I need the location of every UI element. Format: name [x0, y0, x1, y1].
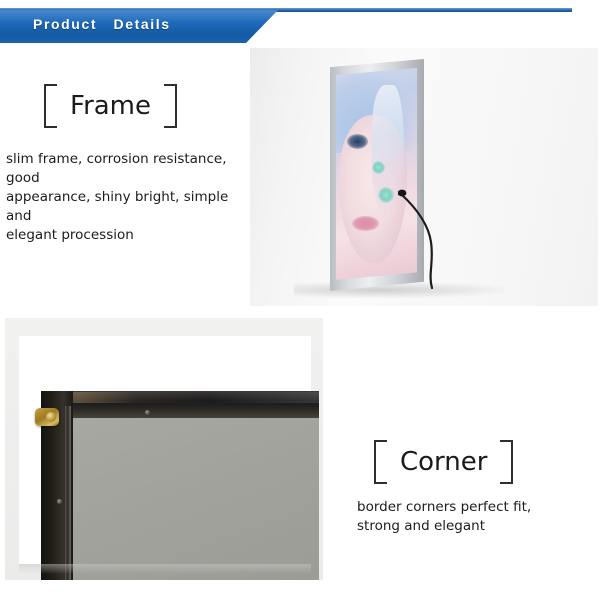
- bracket-left-icon: [374, 440, 387, 484]
- bracket-right-icon: [164, 84, 177, 128]
- bracket-right-icon: [500, 440, 513, 484]
- product-photo-corner: [5, 318, 323, 580]
- power-cable-icon: [398, 188, 470, 293]
- section-heading-frame-label: Frame: [57, 93, 164, 119]
- frame-rivet-1: [145, 410, 150, 415]
- section-description-corner: border corners perfect fit, strong and e…: [357, 498, 597, 536]
- section-heading-frame: Frame: [44, 84, 177, 128]
- frame-grey-panel: [73, 418, 319, 580]
- product-details-page: Product Details Frame slim frame, corros…: [0, 0, 600, 600]
- corner-photo-floor-shadow: [19, 564, 311, 574]
- frame-top-rail-highlight: [41, 392, 319, 403]
- section-heading-corner-label: Corner: [387, 449, 500, 475]
- section-description-frame: slim frame, corrosion resistance, good a…: [6, 150, 246, 245]
- brass-screw-head: [46, 412, 56, 422]
- page-title: Product Details: [33, 16, 171, 32]
- bracket-left-icon: [44, 84, 57, 128]
- product-photo-lightbox: [250, 48, 598, 306]
- frame-rivet-2: [57, 499, 62, 504]
- brass-corner-screw: [35, 408, 59, 426]
- section-heading-corner: Corner: [374, 440, 513, 484]
- poster-eye-region: [347, 134, 368, 149]
- frame-inner-bevel: [65, 406, 71, 580]
- corner-photo-mat: [19, 336, 311, 564]
- poster-accent-dot-1: [372, 161, 385, 174]
- poster-accent-dot-2: [378, 187, 394, 203]
